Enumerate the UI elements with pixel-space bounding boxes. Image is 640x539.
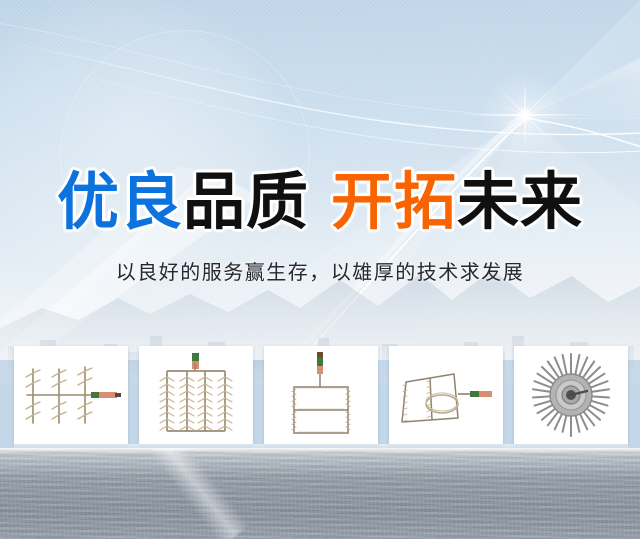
hero-banner: 优良品质开拓未来 以良好的服务赢生存，以雄厚的技术求发展 [0, 0, 640, 539]
headline-segment-1: 优良 [57, 165, 183, 238]
headline-segment-3: 开拓 [331, 165, 457, 238]
ground-highlight-edge [0, 448, 640, 453]
headline-segment-4: 未来 [457, 165, 583, 238]
product-thumbnail-strip [14, 346, 628, 444]
page-subtitle: 以良好的服务赢生存，以雄厚的技术求发展 [0, 258, 640, 286]
product-tile-5[interactable] [514, 346, 628, 444]
page-title: 优良品质开拓未来 [0, 166, 640, 238]
product-tile-2[interactable] [139, 346, 253, 444]
headline-segment-2: 品质 [183, 165, 309, 238]
ground-texture [0, 448, 640, 539]
product-rack-comb-icon [19, 353, 123, 437]
ground-floor [0, 448, 640, 539]
product-tile-3[interactable] [264, 346, 378, 444]
product-tile-4[interactable] [389, 346, 503, 444]
product-tile-1[interactable] [14, 346, 128, 444]
product-rack-double-row-icon [153, 351, 239, 439]
product-rack-loop-icon [396, 360, 496, 430]
product-rack-sunburst-icon [525, 351, 617, 439]
product-rack-ladder-icon [284, 351, 358, 439]
